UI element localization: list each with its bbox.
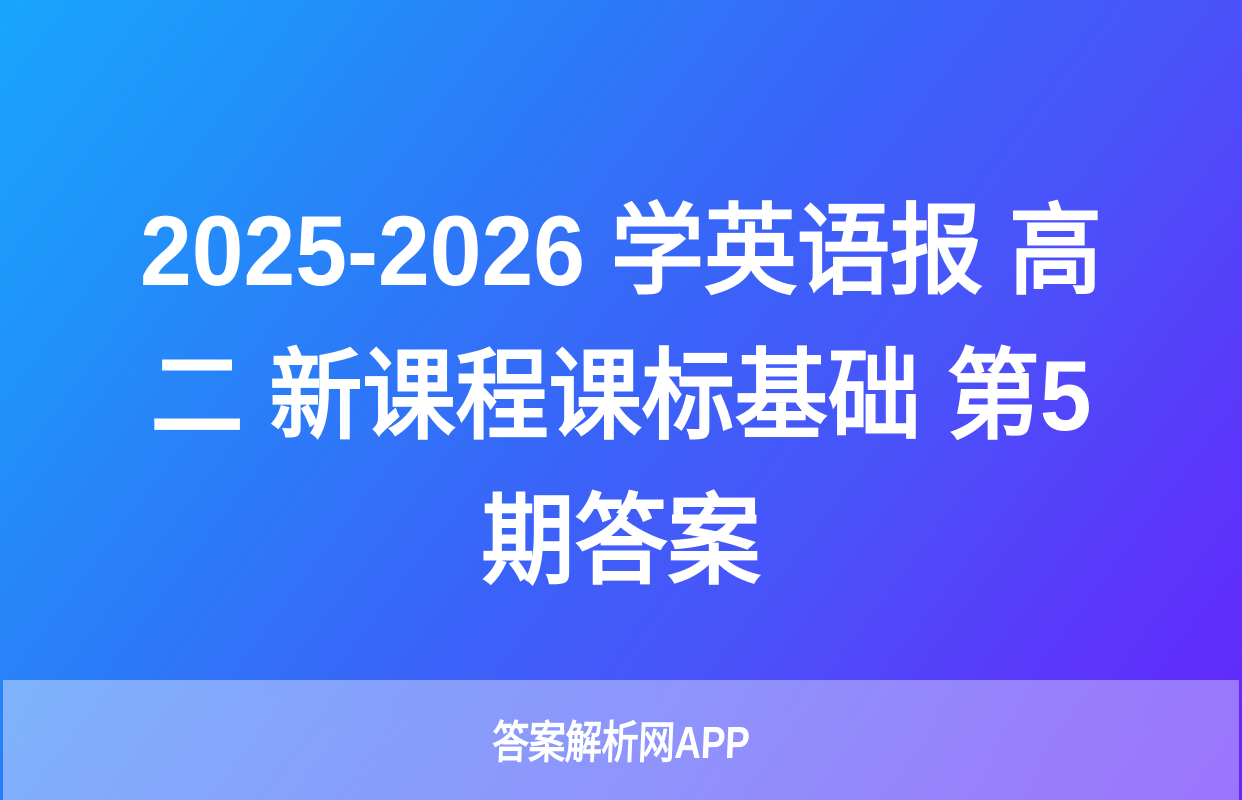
watermark-app-label: 答案解析网APP — [491, 720, 750, 765]
title-line-1: 2025-2026 学英语报 高 — [96, 178, 1147, 323]
answer-banner-card: 2025-2026 学英语报 高 二 新课程课标基础 第5 期答案 答案解析网A… — [0, 0, 1242, 800]
title-line-3: 期答案 — [96, 468, 1147, 613]
title-line-2: 二 新课程课标基础 第5 — [96, 323, 1147, 468]
banner-title: 2025-2026 学英语报 高 二 新课程课标基础 第5 期答案 — [0, 178, 1242, 613]
footer-watermark-band: 答案解析网APP — [3, 680, 1239, 800]
